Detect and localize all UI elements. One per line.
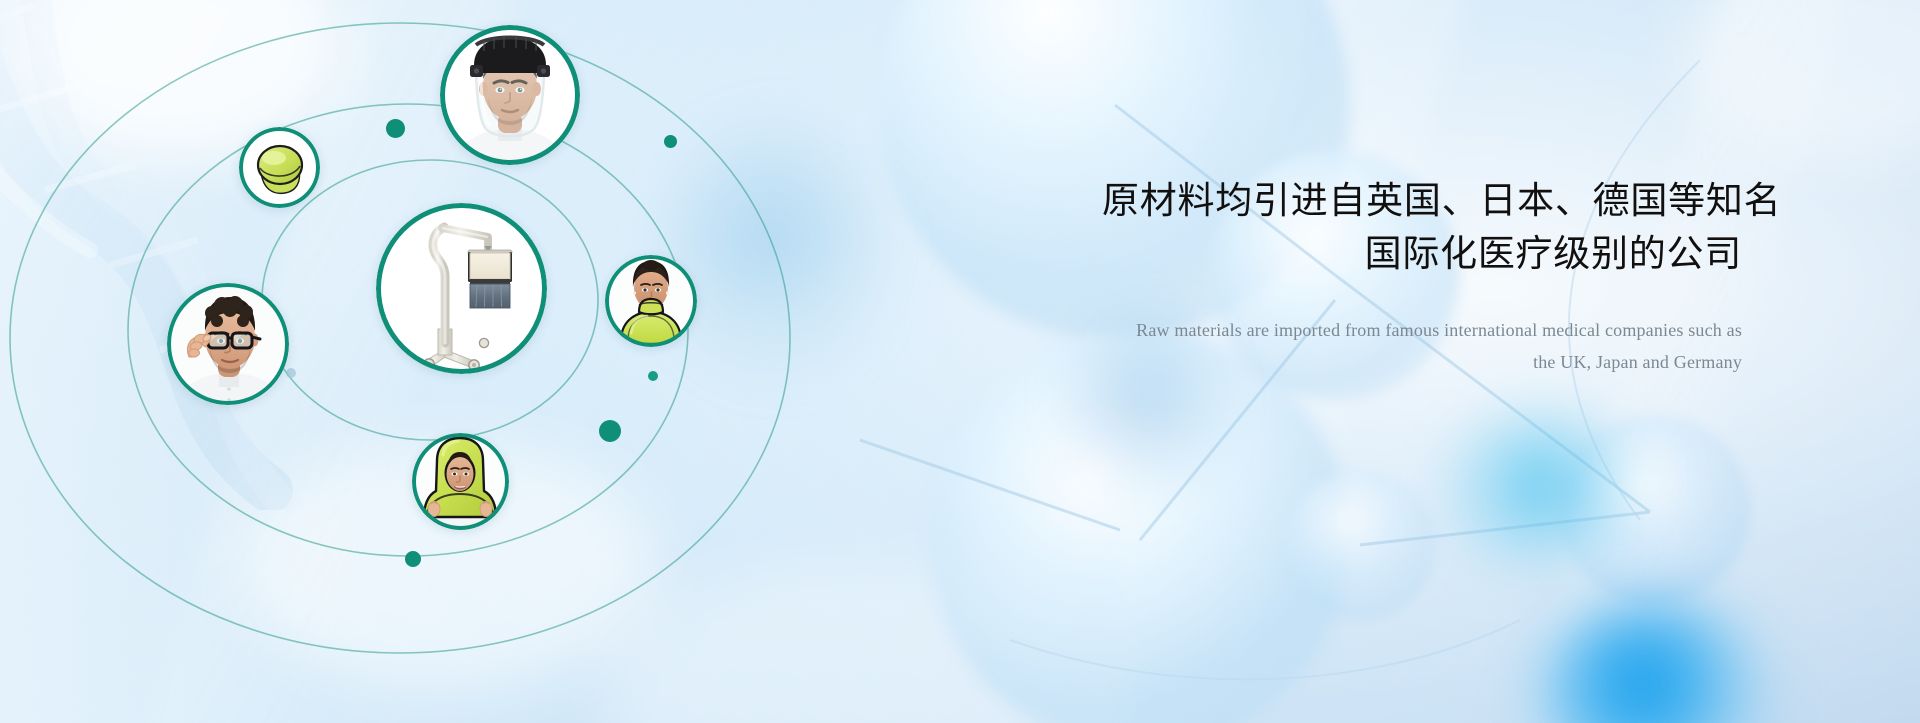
orbit-dot-3 (599, 420, 621, 442)
molecule-sphere-4 (1560, 415, 1750, 605)
bubble-lead-cap-product[interactable] (239, 127, 320, 208)
hero-text-block: 原材料均引进自英国、日本、德国等知名国际化医疗级别的公司 Raw materia… (1102, 175, 1742, 378)
bubble-man-lead-glasses[interactable] (167, 283, 289, 405)
molecule-sphere-5 (1285, 470, 1435, 620)
subtitle-line-1: Raw materials are imported from famous i… (1136, 320, 1742, 340)
cloud-blur-top-right (1680, 0, 1920, 160)
man-wearing-lead-glasses-icon (167, 283, 289, 405)
bubble-xray-shield-stand[interactable] (376, 203, 547, 374)
accent-blue-sphere (1535, 600, 1775, 723)
page-title: 原材料均引进自英国、日本、德国等知名国际化医疗级别的公司 (1102, 175, 1742, 280)
subtitle: Raw materials are imported from famous i… (1102, 314, 1742, 378)
soft-blue-glow-2 (1440, 408, 1640, 568)
orbit-dot-4 (405, 551, 421, 567)
mobile-x-ray-shield-stand-icon (376, 203, 547, 374)
subtitle-line-2: the UK, Japan and Germany (1533, 352, 1742, 372)
bubble-woman-thyroid-collar[interactable] (605, 255, 697, 347)
man-wearing-face-shield-icon (440, 25, 580, 165)
orbit-dot-2 (664, 135, 677, 148)
lead-cap-product-icon (239, 127, 320, 208)
headline-line-1: 原材料均引进自英国、日本、德国等知名 (1102, 180, 1781, 221)
hero-banner: 原材料均引进自英国、日本、德国等知名国际化医疗级别的公司 Raw materia… (0, 0, 1920, 723)
headline-line-2: 国际化医疗级别的公司 (1102, 228, 1742, 281)
orbit-dot-5 (648, 371, 658, 381)
orbit-dot-1 (386, 119, 405, 138)
woman-wearing-lead-hood-icon (412, 433, 509, 530)
woman-wearing-thyroid-collar-icon (605, 255, 697, 347)
bubble-man-face-shield[interactable] (440, 25, 580, 165)
bubble-woman-lead-hood[interactable] (412, 433, 509, 530)
